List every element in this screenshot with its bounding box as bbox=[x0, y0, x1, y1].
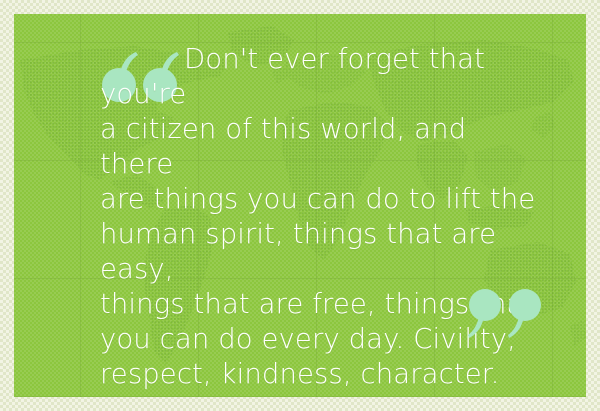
closing-double-quote-icon bbox=[468, 288, 546, 338]
quote-text: Don't ever forget that you're a citizen … bbox=[100, 42, 540, 392]
quote-attribution: — AARON SORKIN bbox=[100, 392, 540, 397]
quote-panel: Don't ever forget that you're a citizen … bbox=[14, 14, 586, 397]
quote-card: Don't ever forget that you're a citizen … bbox=[0, 0, 600, 411]
quote-content: Don't ever forget that you're a citizen … bbox=[100, 42, 540, 397]
quote-block: Don't ever forget that you're a citizen … bbox=[100, 42, 540, 392]
